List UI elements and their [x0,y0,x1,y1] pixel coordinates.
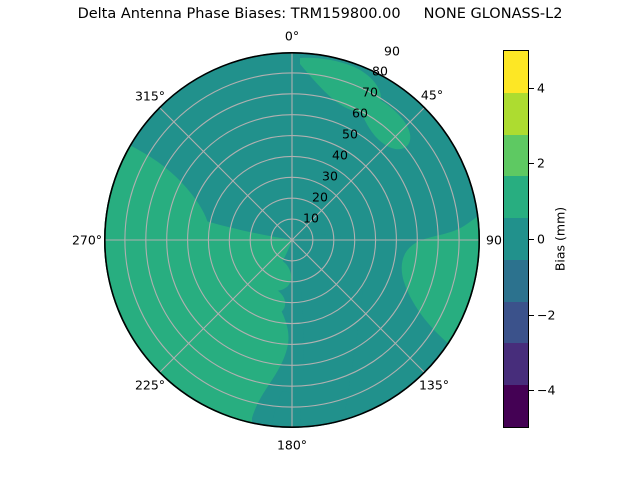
theta-tick-label-180: 180° [277,438,307,453]
r-tick-label-80: 80 [372,64,388,79]
r-tick-label-20: 20 [312,190,328,205]
r-tick-label-90: 90 [384,44,400,59]
page-title: Delta Antenna Phase Biases: TRM159800.00… [0,6,640,22]
colorbar-tick-label-2: 2 [537,156,545,171]
polar-axes: 10 20 30 40 50 60 70 80 90 [104,52,480,428]
polar-plot-svg [104,52,480,428]
theta-tick-label-0: 0° [285,29,299,44]
colorbar-tick-2 [529,163,534,164]
colorbar-tick-4 [529,88,534,89]
colorbar-tick-label-neg2: −2 [537,307,555,322]
r-tick-label-40: 40 [332,148,348,163]
colorbar-tick-label-0: 0 [537,232,545,247]
theta-tick-label-135: 135° [419,378,449,393]
colorbar-band-3 [504,260,528,302]
r-tick-label-50: 50 [342,127,358,142]
theta-tick-label-270: 270° [72,233,102,248]
theta-tick-label-90: 90 [486,233,502,248]
colorbar-tick-label-neg4: −4 [537,383,555,398]
colorbar-tick-0 [529,239,534,240]
colorbar-band-6 [504,135,528,177]
colorbar-tick-neg4 [529,390,534,391]
colorbar-band-0 [504,385,528,427]
colorbar: 4 2 0 −2 −4 [503,50,529,428]
polar-grid-spokes [104,52,480,428]
colorbar-tick-neg2 [529,315,534,316]
colorbar-band-4 [504,218,528,260]
colorbar-gradient [503,50,529,428]
theta-tick-label-45: 45° [421,88,443,103]
colorbar-band-7 [504,93,528,135]
colorbar-axis-label: Bias (mm) [553,207,568,271]
colorbar-band-1 [504,343,528,385]
theta-tick-label-225: 225° [135,378,165,393]
r-tick-label-30: 30 [322,169,338,184]
theta-tick-label-315: 315° [135,89,165,104]
colorbar-band-2 [504,302,528,344]
colorbar-tick-label-4: 4 [537,80,545,95]
colorbar-band-8 [504,51,528,93]
colorbar-band-5 [504,176,528,218]
r-tick-label-60: 60 [352,106,368,121]
figure-canvas: Delta Antenna Phase Biases: TRM159800.00… [0,0,640,480]
r-tick-label-70: 70 [362,85,378,100]
r-tick-label-10: 10 [303,211,319,226]
